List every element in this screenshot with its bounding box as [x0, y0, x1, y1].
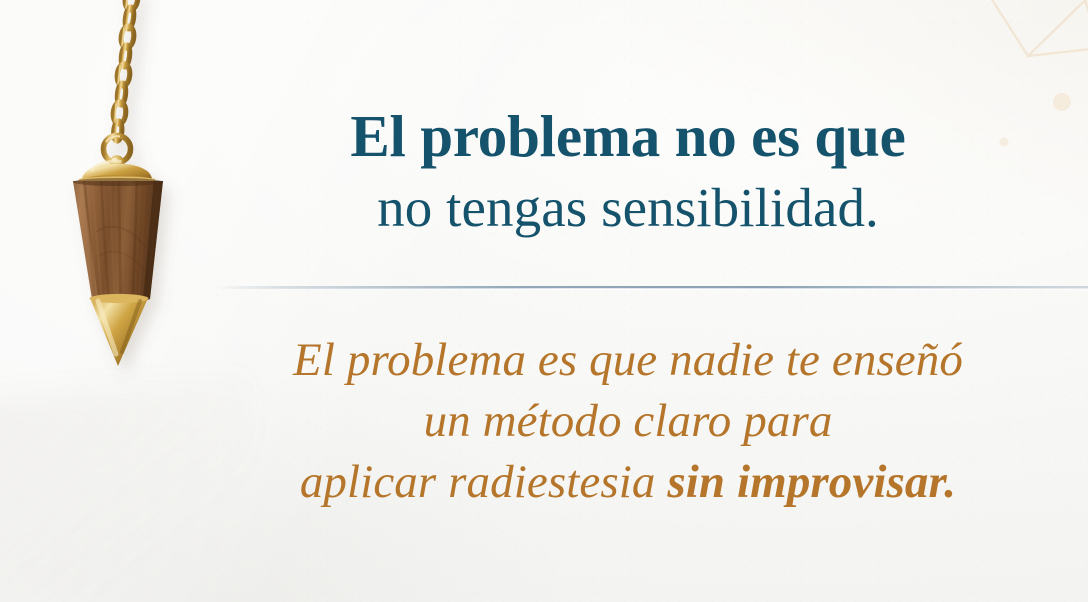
headline-line-2: no tengas sensibilidad.: [206, 180, 1050, 235]
headline-line-1: El problema no es que: [206, 107, 1050, 166]
section-divider: [215, 286, 1088, 289]
subcopy-line-3-plain: aplicar radiestesia: [300, 456, 668, 508]
subcopy: El problema es que nadie te enseñó un mé…: [206, 330, 1050, 513]
poster-canvas: El problema no es que no tengas sensibil…: [0, 0, 1088, 602]
subcopy-line-2: un método claro para: [206, 391, 1050, 452]
subcopy-line-1: El problema es que nadie te enseñó: [206, 330, 1050, 391]
headline: El problema no es que no tengas sensibil…: [206, 107, 1050, 235]
subcopy-line-3: aplicar radiestesia sin improvisar.: [206, 452, 1050, 513]
pendulum-chain: [112, 0, 139, 141]
subcopy-line-3-emphasis: sin improvisar.: [667, 456, 956, 508]
pendulum-brass-tip: [90, 294, 149, 366]
text-block: El problema no es que no tengas sensibil…: [206, 0, 1078, 602]
